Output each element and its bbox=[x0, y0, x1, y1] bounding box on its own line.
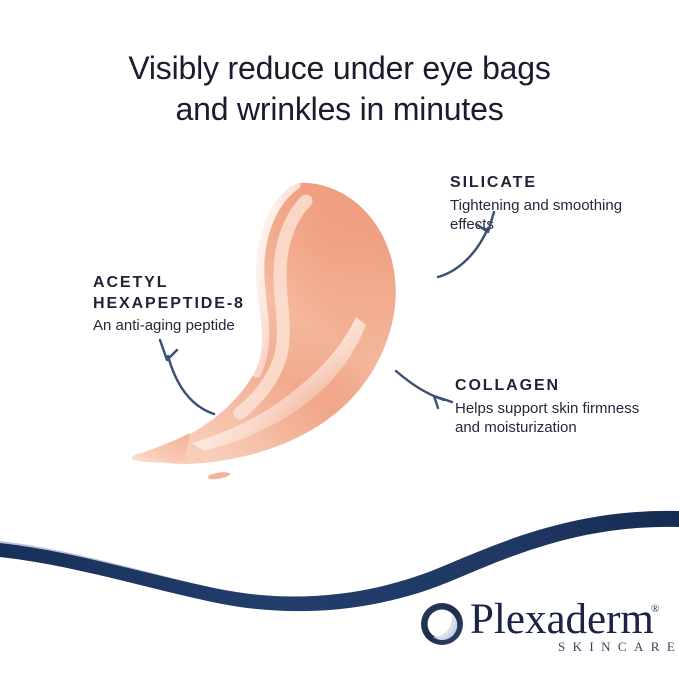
callout-acetyl-hexapeptide-8: ACETYL HEXAPEPTIDE-8 An anti-aging pepti… bbox=[93, 272, 245, 335]
logo-wordmark: Plexaderm bbox=[470, 596, 654, 644]
logo-tagline: SKINCARE bbox=[558, 639, 679, 654]
callout-collagen-description: Helps support skin firmness and moisturi… bbox=[455, 399, 639, 437]
callout-collagen-title: COLLAGEN bbox=[455, 375, 639, 397]
headline-line-2: and wrinkles in minutes bbox=[0, 89, 679, 130]
callout-acetyl-description: An anti-aging peptide bbox=[93, 316, 245, 335]
registered-trademark-icon: ® bbox=[651, 604, 659, 615]
callout-collagen-desc-line-2: and moisturization bbox=[455, 418, 639, 437]
callout-silicate-description: Tightening and smoothing effects bbox=[450, 196, 622, 234]
plexaderm-ring-icon bbox=[418, 600, 466, 648]
callout-collagen: COLLAGEN Helps support skin firmness and… bbox=[455, 375, 639, 437]
callout-acetyl-desc-line-1: An anti-aging peptide bbox=[93, 316, 245, 335]
callout-silicate-desc-line-2: effects bbox=[450, 215, 622, 234]
arrow-right-head-icon bbox=[434, 396, 452, 408]
callout-collagen-desc-line-1: Helps support skin firmness bbox=[455, 399, 639, 418]
page-title: Visibly reduce under eye bags and wrinkl… bbox=[0, 48, 679, 130]
headline-line-1: Visibly reduce under eye bags bbox=[0, 48, 679, 89]
callout-silicate-title: SILICATE bbox=[450, 172, 622, 194]
callout-silicate-desc-line-1: Tightening and smoothing bbox=[450, 196, 622, 215]
swatch-tail bbox=[132, 433, 190, 462]
arrow-up-right-icon bbox=[438, 228, 488, 277]
marketing-image: Visibly reduce under eye bags and wrinkl… bbox=[0, 0, 679, 679]
callout-acetyl-title-line-2: HEXAPEPTIDE-8 bbox=[93, 293, 245, 314]
brand-logo: Plexaderm ® SKINCARE bbox=[418, 598, 666, 660]
swatch-droplet bbox=[208, 472, 231, 479]
callout-acetyl-title-line-1: ACETYL bbox=[93, 272, 245, 293]
callout-silicate: SILICATE Tightening and smoothing effect… bbox=[450, 172, 622, 234]
